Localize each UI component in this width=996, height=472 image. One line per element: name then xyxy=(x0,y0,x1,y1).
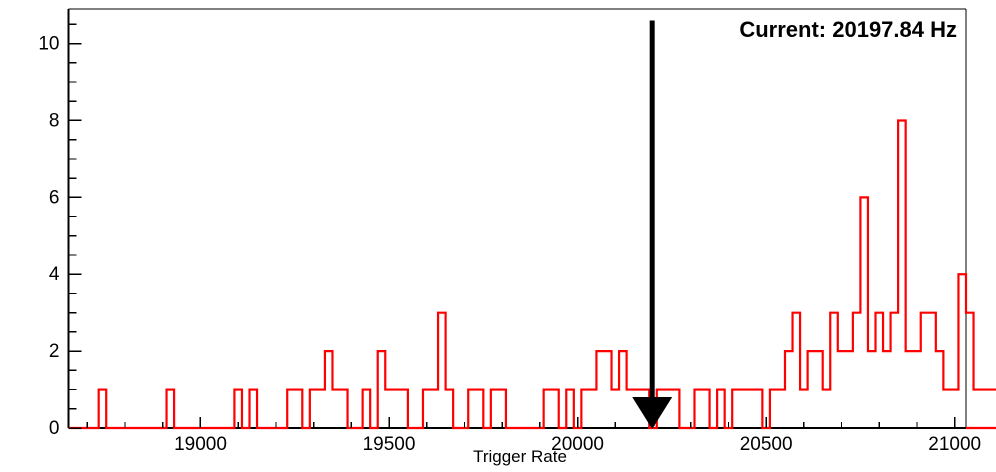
current-rate-label: Current: 20197.84 Hz xyxy=(739,17,957,42)
x-tick-label: 20500 xyxy=(740,434,793,455)
axis-tick-labels: 19000195002000020500210000246810 xyxy=(38,34,981,455)
plot-canvas: 19000195002000020500210000246810 Trigger… xyxy=(0,0,996,472)
arrow-head xyxy=(632,397,672,429)
x-tick-label: 19000 xyxy=(174,434,227,455)
y-tick-label: 8 xyxy=(49,110,60,131)
y-tick-label: 4 xyxy=(49,264,60,285)
histogram-outline xyxy=(69,120,996,428)
plot-frame xyxy=(69,9,967,428)
y-tick-label: 10 xyxy=(38,34,59,55)
y-tick-label: 2 xyxy=(49,341,60,362)
trigger-rate-histogram: 19000195002000020500210000246810 Trigger… xyxy=(0,0,996,472)
x-axis-title: Trigger Rate xyxy=(473,447,567,466)
y-tick-label: 0 xyxy=(49,418,60,439)
x-tick-label: 21000 xyxy=(928,434,981,455)
histogram-series xyxy=(69,120,996,428)
current-rate-arrow[interactable] xyxy=(632,21,672,429)
y-tick-label: 6 xyxy=(49,187,60,208)
x-tick-label: 19500 xyxy=(363,434,416,455)
